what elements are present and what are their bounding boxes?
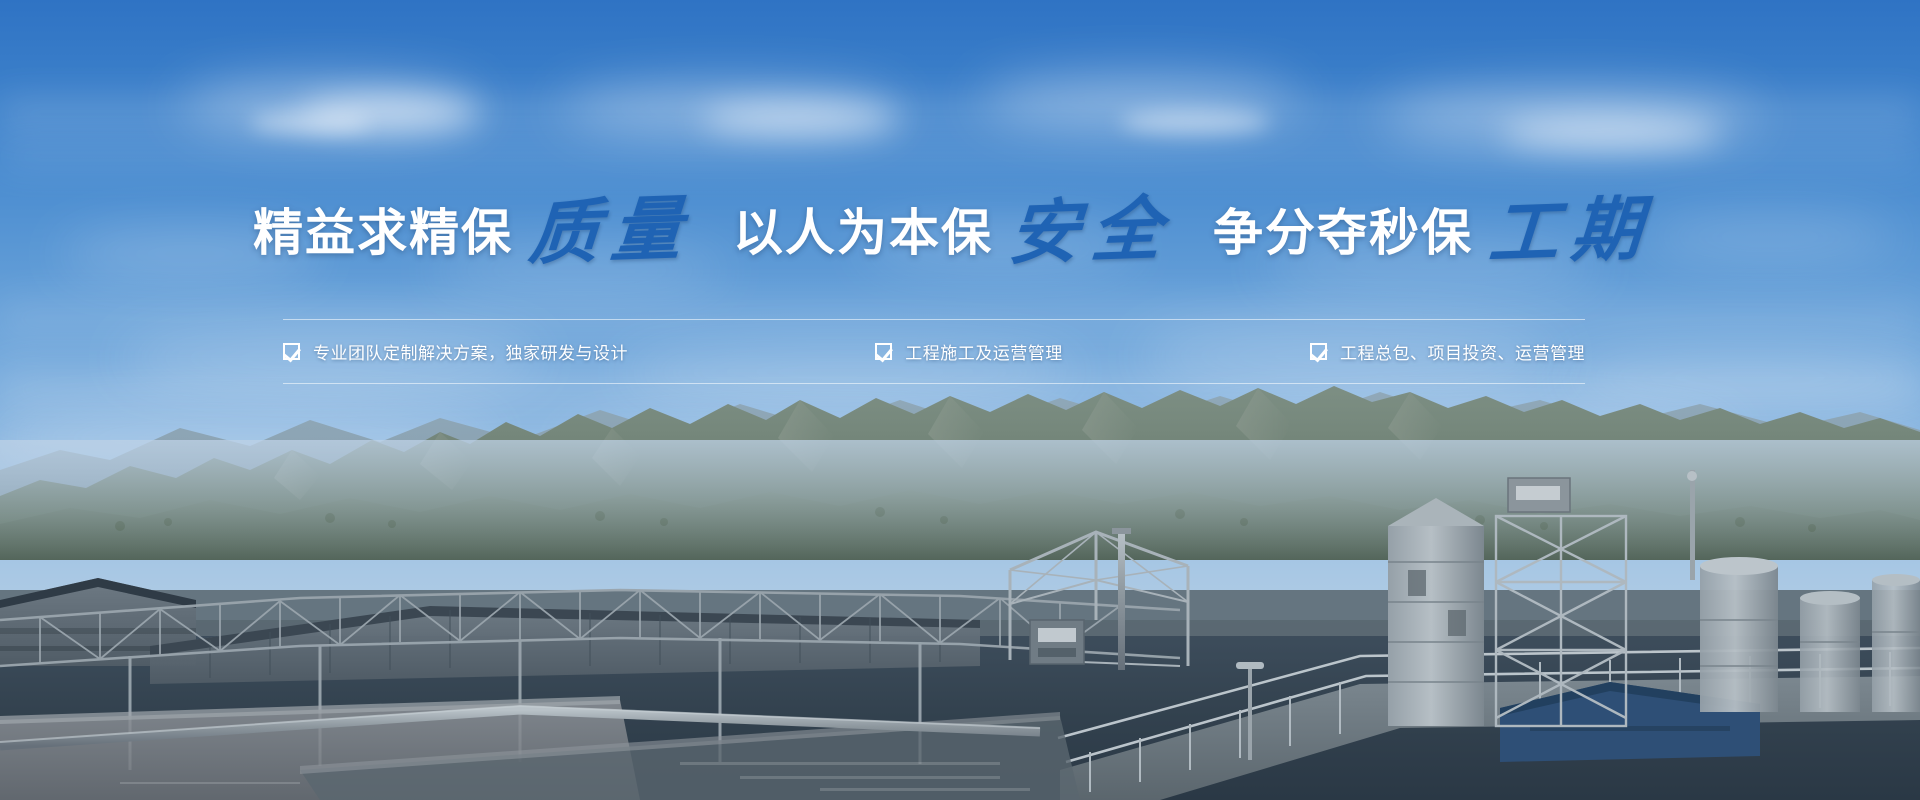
headline-segment-2: 以人为本保 [733, 208, 993, 258]
headline-accent-quality: 质量 [526, 195, 695, 271]
tower-cabin [1508, 478, 1570, 512]
hero-banner: 精益求精保 质量 以人为本保 安全 争分夺秒保 工期 专业团队定制解决方案，独家… [0, 0, 1920, 800]
tank-cluster [1700, 557, 1920, 712]
headline-accent-schedule: 工期 [1486, 195, 1655, 271]
headline-accent-safety: 安全 [1006, 195, 1175, 271]
headline-segment-3: 争分夺秒保 [1213, 208, 1473, 258]
industrial-plant-scene [0, 470, 1920, 800]
headline: 精益求精保 质量 以人为本保 安全 争分夺秒保 工期 [0, 198, 1920, 268]
silo-tower [1388, 498, 1484, 726]
headline-segment-1: 精益求精保 [253, 208, 513, 258]
antenna-mast [1687, 470, 1697, 580]
control-hut [1030, 620, 1084, 664]
